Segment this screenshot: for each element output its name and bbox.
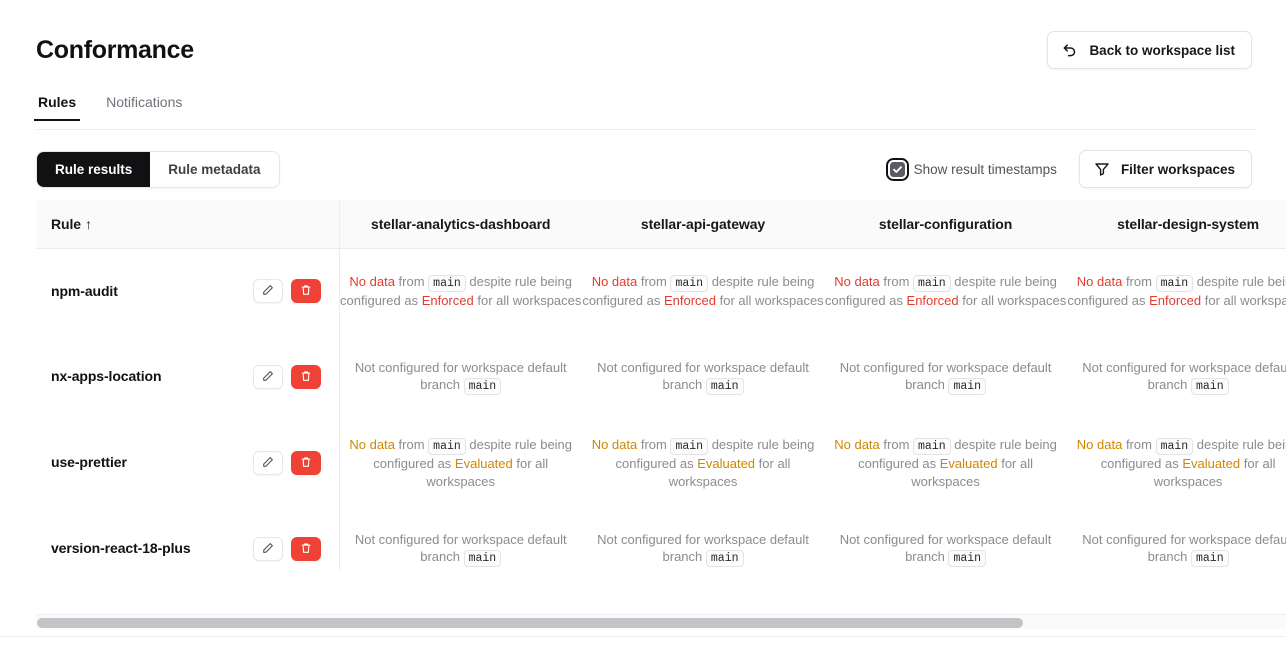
result-cell[interactable]: No data from main despite rule being con… [582,248,825,334]
branch-chip: main [670,438,708,455]
result-cell[interactable]: No data from main despite rule being con… [1067,248,1286,334]
branch-chip: main [913,438,951,455]
horizontal-scrollbar[interactable] [36,614,1286,629]
cell-status-text: No data from main despite rule being con… [582,273,825,310]
filter-workspaces-label: Filter workspaces [1121,162,1235,177]
branch-chip: main [464,378,502,395]
cell-text-from: from [880,274,913,289]
branch-chip: main [464,550,502,567]
result-cell[interactable]: No data from main despite rule being con… [339,420,582,506]
trash-icon [300,284,312,299]
cell-text-from: from [1122,274,1155,289]
row-actions [253,537,321,561]
segment-rule-metadata[interactable]: Rule metadata [150,152,278,187]
cell-status-text: No data from main despite rule being con… [1067,436,1286,491]
column-header-workspace-1[interactable]: stellar-api-gateway [582,200,825,248]
branch-chip: main [948,378,986,395]
cell-status-text: Not configured for workspace default bra… [1067,531,1286,568]
filter-workspaces-button[interactable]: Filter workspaces [1079,150,1252,188]
result-cell[interactable]: No data from main despite rule being con… [582,420,825,506]
branch-chip: main [913,275,951,292]
column-header-workspace-2[interactable]: stellar-configuration [824,200,1067,248]
delete-rule-button[interactable] [291,365,321,389]
table-row: npm-auditNo data from main despite rule … [36,248,1286,334]
rule-cell: version-react-18-plus [36,506,339,570]
page-title: Conformance [36,36,194,65]
branch-chip: main [1191,550,1229,567]
status-severity: Enforced [1149,293,1201,308]
table-body: npm-auditNo data from main despite rule … [36,248,1286,570]
delete-rule-button[interactable] [291,279,321,303]
tab-rules[interactable]: Rules [36,94,78,121]
cell-text-from: from [637,437,670,452]
cell-status-text: No data from main despite rule being con… [824,273,1067,310]
table-row: nx-apps-locationNot configured for works… [36,334,1286,420]
status-severity: Evaluated [455,456,513,471]
view-mode-segmented-control: Rule results Rule metadata [36,151,280,188]
delete-rule-button[interactable] [291,537,321,561]
edit-rule-button[interactable] [253,451,283,475]
cell-status-text: No data from main despite rule being con… [582,436,825,491]
status-severity: Evaluated [1182,456,1240,471]
page-bottom-divider [0,636,1286,637]
cell-status-text: Not configured for workspace default bra… [824,359,1067,396]
sort-ascending-icon: ↑ [85,216,92,232]
table-header-row: Rule↑ stellar-analytics-dashboard stella… [36,200,1286,248]
cell-text-tail: for all workspaces [1201,293,1286,308]
status-no-data: No data [349,274,395,289]
status-no-data: No data [592,437,638,452]
rule-cell: use-prettier [36,420,339,506]
result-cell[interactable]: Not configured for workspace default bra… [582,506,825,570]
cell-status-text: Not configured for workspace default bra… [582,531,825,568]
row-actions [253,279,321,303]
funnel-icon [1094,161,1110,177]
result-cell[interactable]: Not configured for workspace default bra… [1067,334,1286,420]
branch-chip: main [706,550,744,567]
back-to-workspace-list-button[interactable]: Back to workspace list [1047,31,1252,69]
status-no-data: No data [592,274,638,289]
result-cell[interactable]: Not configured for workspace default bra… [824,334,1067,420]
conformance-table-viewport[interactable]: Rule↑ stellar-analytics-dashboard stella… [36,200,1286,570]
status-no-data: No data [1077,274,1123,289]
result-cell[interactable]: No data from main despite rule being con… [1067,420,1286,506]
column-header-rule-label: Rule [51,216,81,232]
cell-status-text: No data from main despite rule being con… [340,436,582,491]
table-row: use-prettierNo data from main despite ru… [36,420,1286,506]
branch-chip: main [428,275,466,292]
conformance-table: Rule↑ stellar-analytics-dashboard stella… [36,200,1286,570]
row-actions [253,451,321,475]
branch-chip: main [948,550,986,567]
status-no-data: No data [349,437,395,452]
checkbox-checked-icon[interactable] [890,162,905,177]
trash-icon [300,542,312,557]
tabs-divider [36,129,1256,130]
branch-chip: main [428,438,466,455]
result-cell[interactable]: No data from main despite rule being con… [339,248,582,334]
status-no-data: No data [1077,437,1123,452]
edit-rule-button[interactable] [253,279,283,303]
column-header-rule[interactable]: Rule↑ [36,200,339,248]
edit-rule-button[interactable] [253,365,283,389]
cell-text-tail: for all workspaces [474,293,582,308]
rule-name: npm-audit [51,283,118,301]
status-severity: Enforced [907,293,959,308]
result-cell[interactable]: No data from main despite rule being con… [824,248,1067,334]
cell-status-text: Not configured for workspace default bra… [824,531,1067,568]
branch-chip: main [1156,438,1194,455]
segment-rule-results[interactable]: Rule results [37,152,150,187]
delete-rule-button[interactable] [291,451,321,475]
rule-name: nx-apps-location [51,368,161,386]
branch-chip: main [706,378,744,395]
column-header-workspace-0[interactable]: stellar-analytics-dashboard [339,200,582,248]
result-cell[interactable]: Not configured for workspace default bra… [339,334,582,420]
cell-status-text: No data from main despite rule being con… [824,436,1067,491]
rule-cell: npm-audit [36,248,339,334]
result-cell[interactable]: Not configured for workspace default bra… [1067,506,1286,570]
result-cell[interactable]: Not configured for workspace default bra… [339,506,582,570]
row-actions [253,365,321,389]
tab-notifications[interactable]: Notifications [104,94,184,121]
branch-chip: main [1156,275,1194,292]
table-head: Rule↑ stellar-analytics-dashboard stella… [36,200,1286,248]
edit-rule-button[interactable] [253,537,283,561]
cell-status-text: Not configured for workspace default bra… [582,359,825,396]
toolbar-right-group: Show result timestamps Filter workspaces [890,150,1252,188]
pencil-icon [262,370,274,385]
status-no-data: No data [834,437,880,452]
column-header-workspace-3[interactable]: stellar-design-system [1067,200,1286,248]
result-cell[interactable]: No data from main despite rule being con… [824,420,1067,506]
horizontal-scrollbar-thumb[interactable] [37,618,1023,628]
trash-icon [300,456,312,471]
trash-icon [300,370,312,385]
cell-text-tail: for all workspaces [716,293,824,308]
status-no-data: No data [834,274,880,289]
table-row: version-react-18-plusNot configured for … [36,506,1286,570]
pencil-icon [262,542,274,557]
rule-name: use-prettier [51,454,127,472]
rule-cell: nx-apps-location [36,334,339,420]
conformance-page: Conformance Back to workspace list Rules… [0,0,1286,667]
result-cell[interactable]: Not configured for workspace default bra… [824,506,1067,570]
tab-list: Rules Notifications [36,94,1252,130]
cell-text-from: from [395,437,428,452]
status-severity: Evaluated [697,456,755,471]
undo-arrow-icon [1062,42,1078,58]
cell-text-from: from [880,437,913,452]
pencil-icon [262,284,274,299]
pencil-icon [262,456,274,471]
toolbar: Rule results Rule metadata Show result t… [0,130,1286,192]
tabs-bar: Rules Notifications [0,94,1286,130]
branch-chip: main [1191,378,1229,395]
show-result-timestamps-label: Show result timestamps [914,162,1057,177]
cell-status-text: Not configured for workspace default bra… [340,359,582,396]
back-to-workspace-list-label: Back to workspace list [1089,43,1235,58]
cell-status-text: No data from main despite rule being con… [1067,273,1286,310]
cell-text-from: from [395,274,428,289]
status-severity: Enforced [664,293,716,308]
cell-text-tail: for all workspaces [959,293,1067,308]
branch-chip: main [670,275,708,292]
cell-text-from: from [1122,437,1155,452]
status-severity: Enforced [422,293,474,308]
cell-status-text: Not configured for workspace default bra… [340,531,582,568]
cell-text-from: from [637,274,670,289]
status-severity: Evaluated [940,456,998,471]
rule-name: version-react-18-plus [51,540,191,558]
cell-status-text: Not configured for workspace default bra… [1067,359,1286,396]
show-result-timestamps-toggle[interactable]: Show result timestamps [890,162,1057,177]
cell-status-text: No data from main despite rule being con… [340,273,582,310]
page-header: Conformance Back to workspace list [0,0,1286,78]
result-cell[interactable]: Not configured for workspace default bra… [582,334,825,420]
